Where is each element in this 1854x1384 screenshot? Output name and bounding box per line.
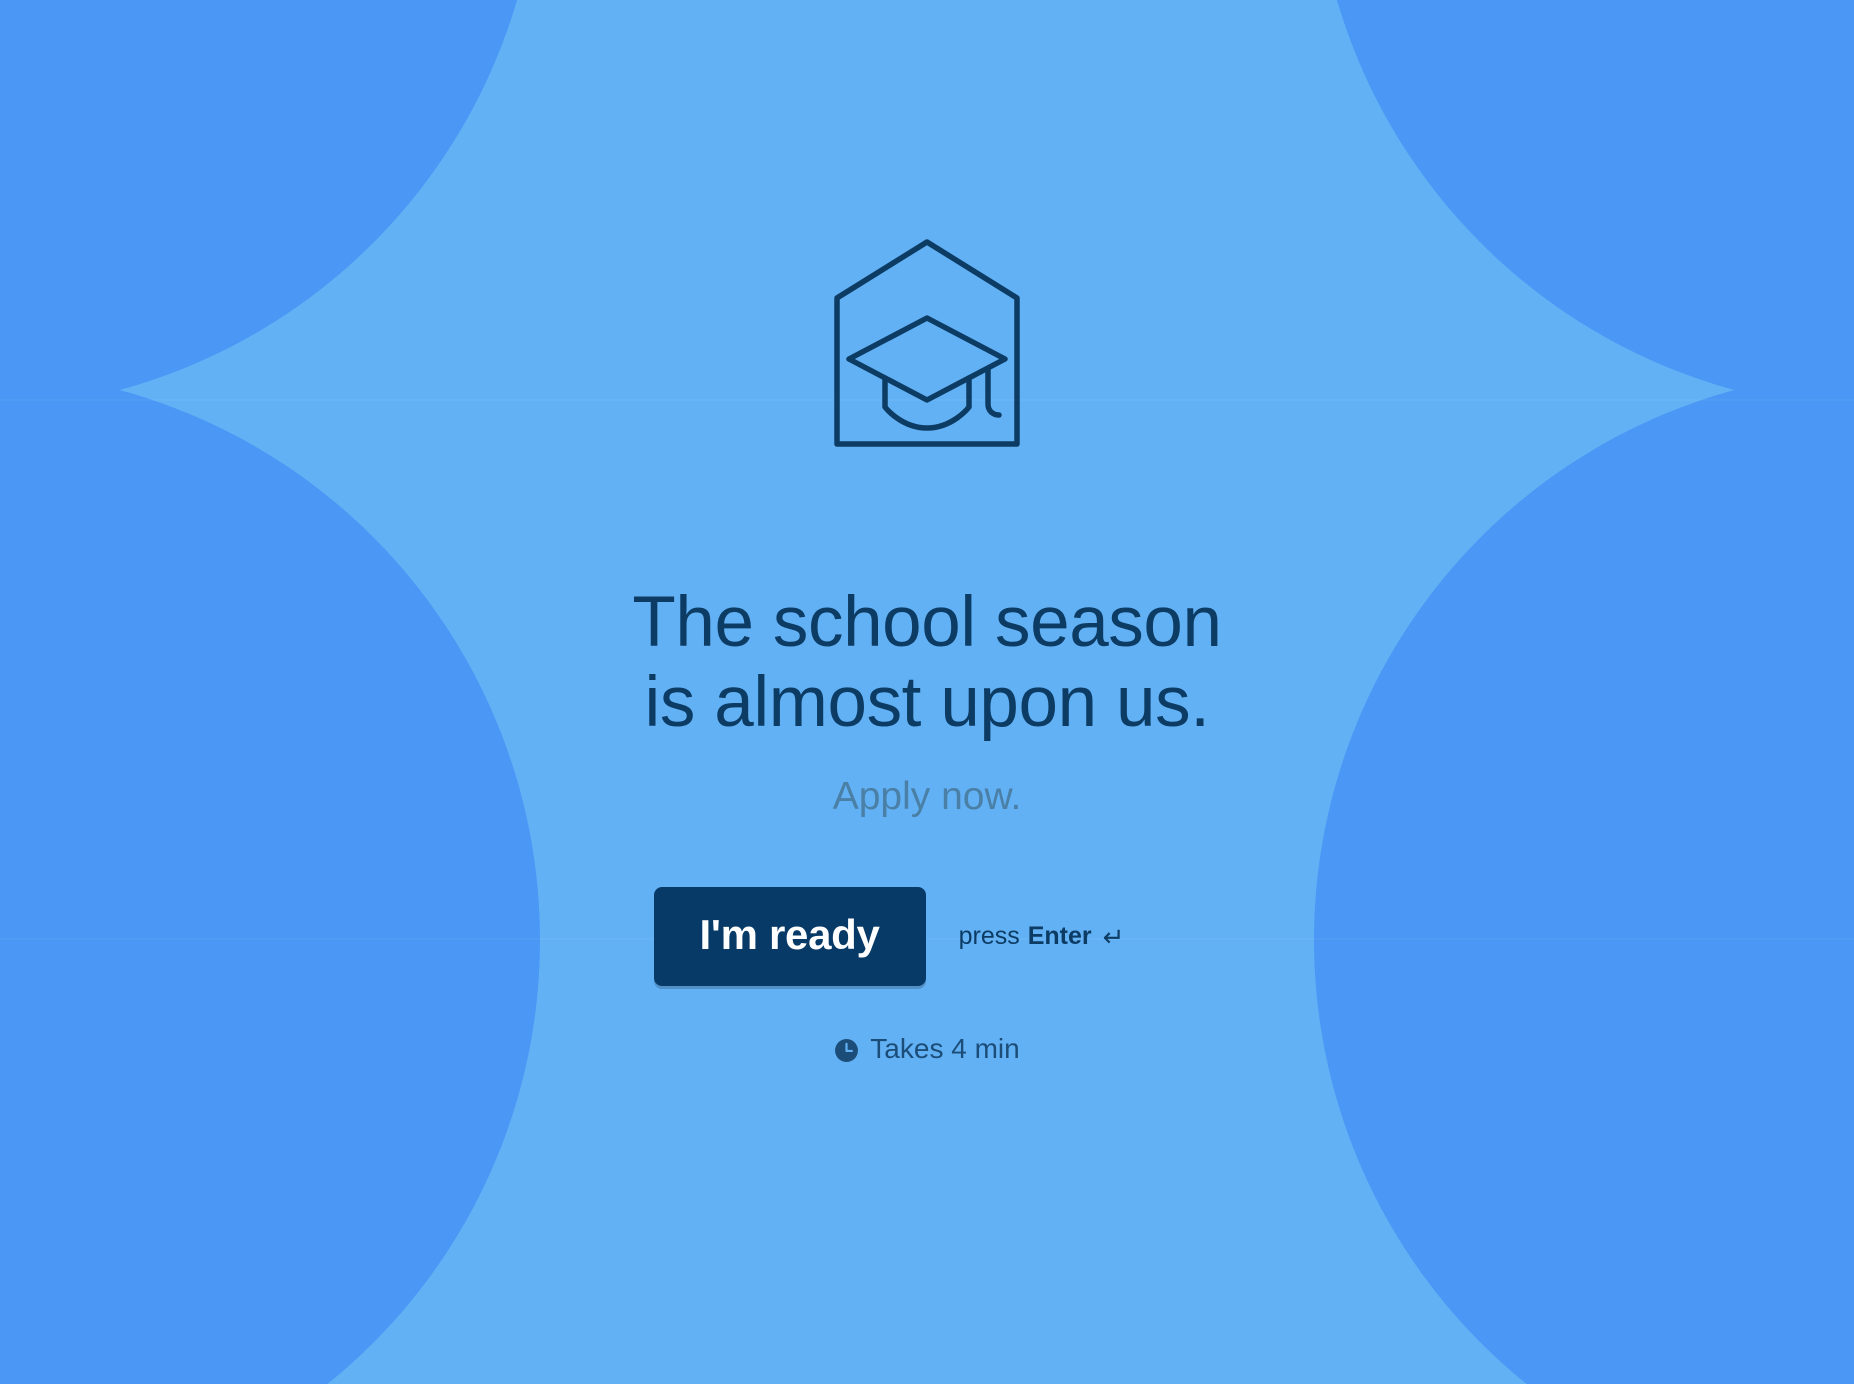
clock-icon [834, 1038, 859, 1063]
page-title-line-2: is almost upon us. [632, 663, 1221, 743]
duration-row: Takes 4 min [834, 1035, 1019, 1065]
school-graduation-cap-icon [827, 236, 1027, 452]
page-subtitle: Apply now. [833, 774, 1022, 821]
page-title: The school season is almost upon us. [632, 583, 1221, 743]
enter-arrow-icon: ↵ [1103, 924, 1125, 950]
press-enter-hint: press Enter ↵ [959, 922, 1125, 951]
cta-row: I'm ready press Enter ↵ [654, 887, 1125, 986]
welcome-content: The school season is almost upon us. App… [0, 0, 1854, 1384]
press-hint-prefix: press [959, 922, 1020, 951]
press-hint-key: Enter [1028, 922, 1092, 951]
page-title-line-1: The school season [632, 583, 1221, 663]
im-ready-button[interactable]: I'm ready [654, 887, 926, 986]
welcome-screen: The school season is almost upon us. App… [0, 0, 1854, 1384]
duration-label: Takes 4 min [870, 1035, 1019, 1065]
